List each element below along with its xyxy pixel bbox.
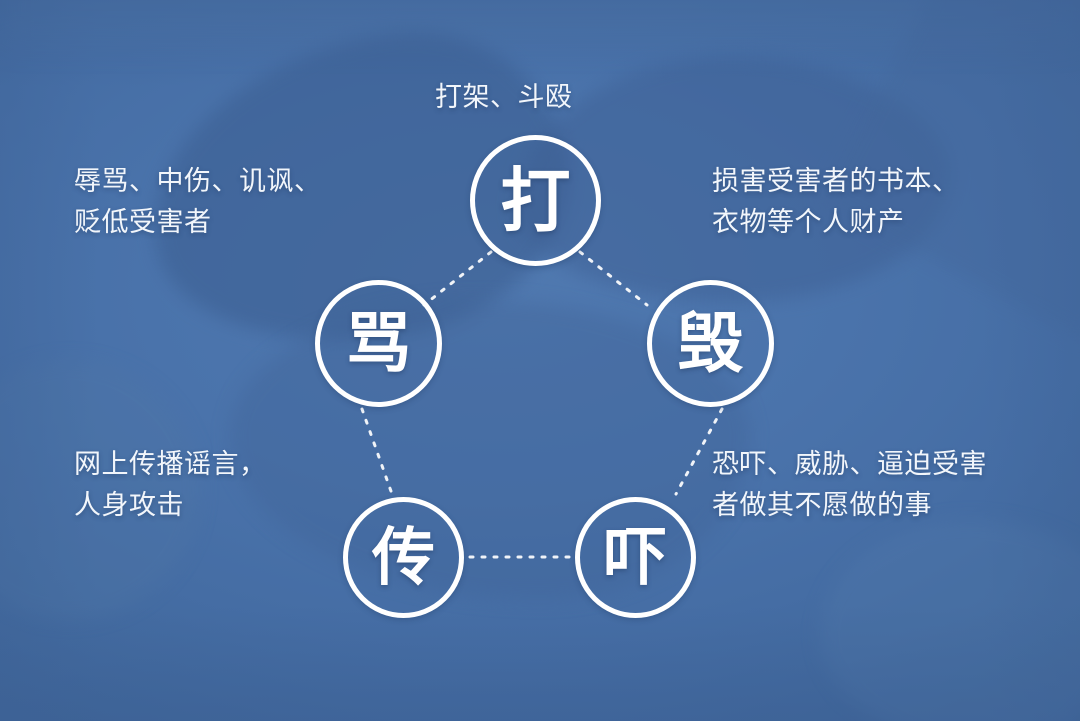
node-glyph-hui: 毁 [678, 311, 744, 377]
caption-right-upper: 损害受害者的书本、 衣物等个人财产 [712, 161, 1042, 243]
connector-da-hui [580, 252, 647, 305]
node-glyph-chuan: 传 [372, 526, 435, 589]
caption-right-lower: 恐吓、威胁、逼迫受害 者做其不愿做的事 [712, 444, 1052, 526]
caption-left-lower: 网上传播谣言， 人身攻击 [74, 444, 384, 526]
caption-left-upper: 辱骂、中伤、讥讽、 贬低受害者 [74, 161, 384, 243]
connector-da-ma [424, 252, 491, 305]
node-circle-ma[interactable]: 骂 [315, 280, 442, 407]
node-glyph-da: 打 [501, 166, 571, 236]
node-circle-hui[interactable]: 毁 [647, 280, 774, 407]
node-circle-da[interactable]: 打 [470, 135, 601, 266]
node-glyph-xia: 吓 [604, 526, 667, 589]
node-glyph-ma: 骂 [346, 311, 412, 377]
caption-top: 打架、斗殴 [435, 77, 735, 118]
node-circle-xia[interactable]: 吓 [575, 497, 696, 618]
poster-canvas: 打 骂 毁 传 吓 打架、斗殴 辱骂、中伤、讥讽、 贬低受害者 损害受害者的书本… [0, 0, 1080, 721]
